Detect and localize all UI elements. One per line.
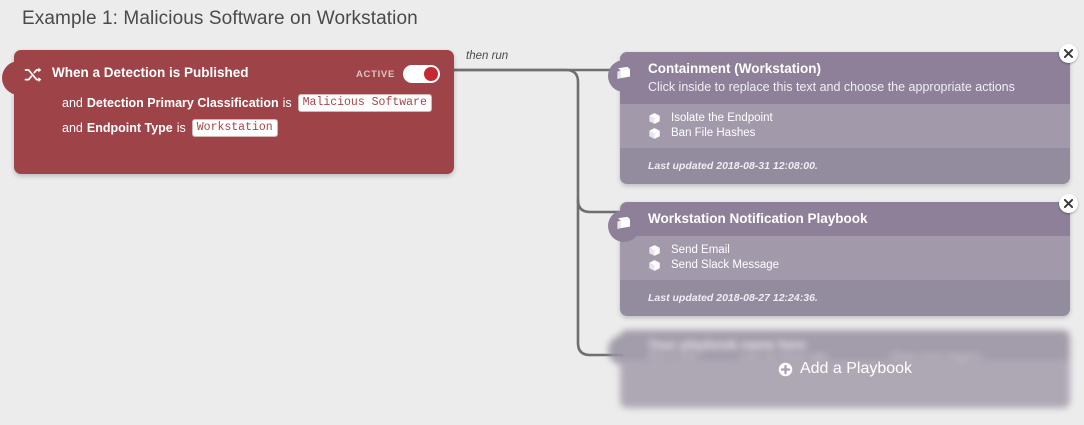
condition-field: Detection Primary Classification [87, 96, 279, 110]
condition-operator: is [177, 121, 186, 135]
playbook-header: Containment (Workstation) Click inside t… [620, 52, 1070, 104]
playbook-action-item[interactable]: Ban File Hashes [648, 126, 1054, 140]
condition-prefix: and [62, 121, 83, 135]
close-icon[interactable] [1059, 194, 1078, 213]
add-playbook-button[interactable]: Add a Playbook [620, 330, 1070, 408]
active-toggle-label: ACTIVE [356, 69, 395, 80]
playbook-action-label: Send Slack Message [671, 259, 779, 271]
trigger-title: When a Detection is Published [52, 65, 249, 80]
cube-icon [648, 127, 661, 140]
playbook-footer: Last updated 2018-08-31 12:08:00. [620, 148, 1070, 184]
active-toggle-group[interactable]: ACTIVE [356, 65, 440, 83]
shuffle-icon [24, 66, 42, 84]
condition-field: Endpoint Type [87, 121, 173, 135]
playbook-card[interactable]: Workstation Notification Playbook Send E… [620, 202, 1070, 316]
book-icon [616, 66, 632, 80]
condition-operator: is [283, 96, 292, 110]
playbook-last-updated: Last updated 2018-08-27 12:24:36. [648, 292, 818, 304]
condition-row[interactable]: and Detection Primary Classification is … [62, 94, 432, 112]
playbook-action-item[interactable]: Isolate the Endpoint [648, 111, 1054, 125]
close-glyph [1064, 199, 1073, 208]
playbook-action-item[interactable]: Send Slack Message [648, 258, 1054, 272]
page-title: Example 1: Malicious Software on Worksta… [22, 8, 418, 30]
playbook-action-label: Ban File Hashes [671, 127, 755, 139]
add-playbook-label: Add a Playbook [800, 360, 912, 378]
playbook-header: Workstation Notification Playbook [620, 202, 1070, 236]
playbook-action-item[interactable]: Send Email [648, 243, 1054, 257]
playbook-action-label: Send Email [671, 244, 730, 256]
playbook-actions-list: Isolate the Endpoint Ban File Hashes [620, 104, 1070, 148]
add-playbook-card[interactable]: Your playbook name here Run it now Last … [620, 330, 1070, 408]
playbook-last-updated: Last updated 2018-08-31 12:08:00. [648, 160, 818, 172]
trigger-card[interactable]: When a Detection is Published ACTIVE and… [14, 50, 454, 174]
playbook-card[interactable]: Containment (Workstation) Click inside t… [620, 52, 1070, 184]
book-icon [616, 216, 632, 230]
condition-prefix: and [62, 96, 83, 110]
condition-value[interactable]: Malicious Software [298, 94, 432, 112]
active-toggle-switch[interactable] [403, 65, 440, 83]
connector-label-then-run: then run [466, 50, 508, 62]
plus-circle-icon [778, 362, 793, 377]
playbook-footer: Last updated 2018-08-27 12:24:36. [620, 280, 1070, 316]
playbook-actions-list: Send Email Send Slack Message [620, 236, 1070, 280]
cube-icon [648, 259, 661, 272]
close-glyph [1064, 49, 1073, 58]
cube-icon [648, 244, 661, 257]
playbook-automation-canvas: Example 1: Malicious Software on Worksta… [0, 0, 1084, 425]
playbook-title: Workstation Notification Playbook [648, 211, 1054, 226]
condition-row[interactable]: and Endpoint Type is Workstation [62, 119, 278, 137]
playbook-subtitle[interactable]: Click inside to replace this text and ch… [648, 80, 1054, 94]
cube-icon [648, 112, 661, 125]
playbook-title: Containment (Workstation) [648, 61, 1054, 76]
close-icon[interactable] [1059, 44, 1078, 63]
condition-value[interactable]: Workstation [192, 119, 278, 137]
playbook-action-label: Isolate the Endpoint [671, 112, 773, 124]
active-toggle-knob [424, 67, 438, 81]
